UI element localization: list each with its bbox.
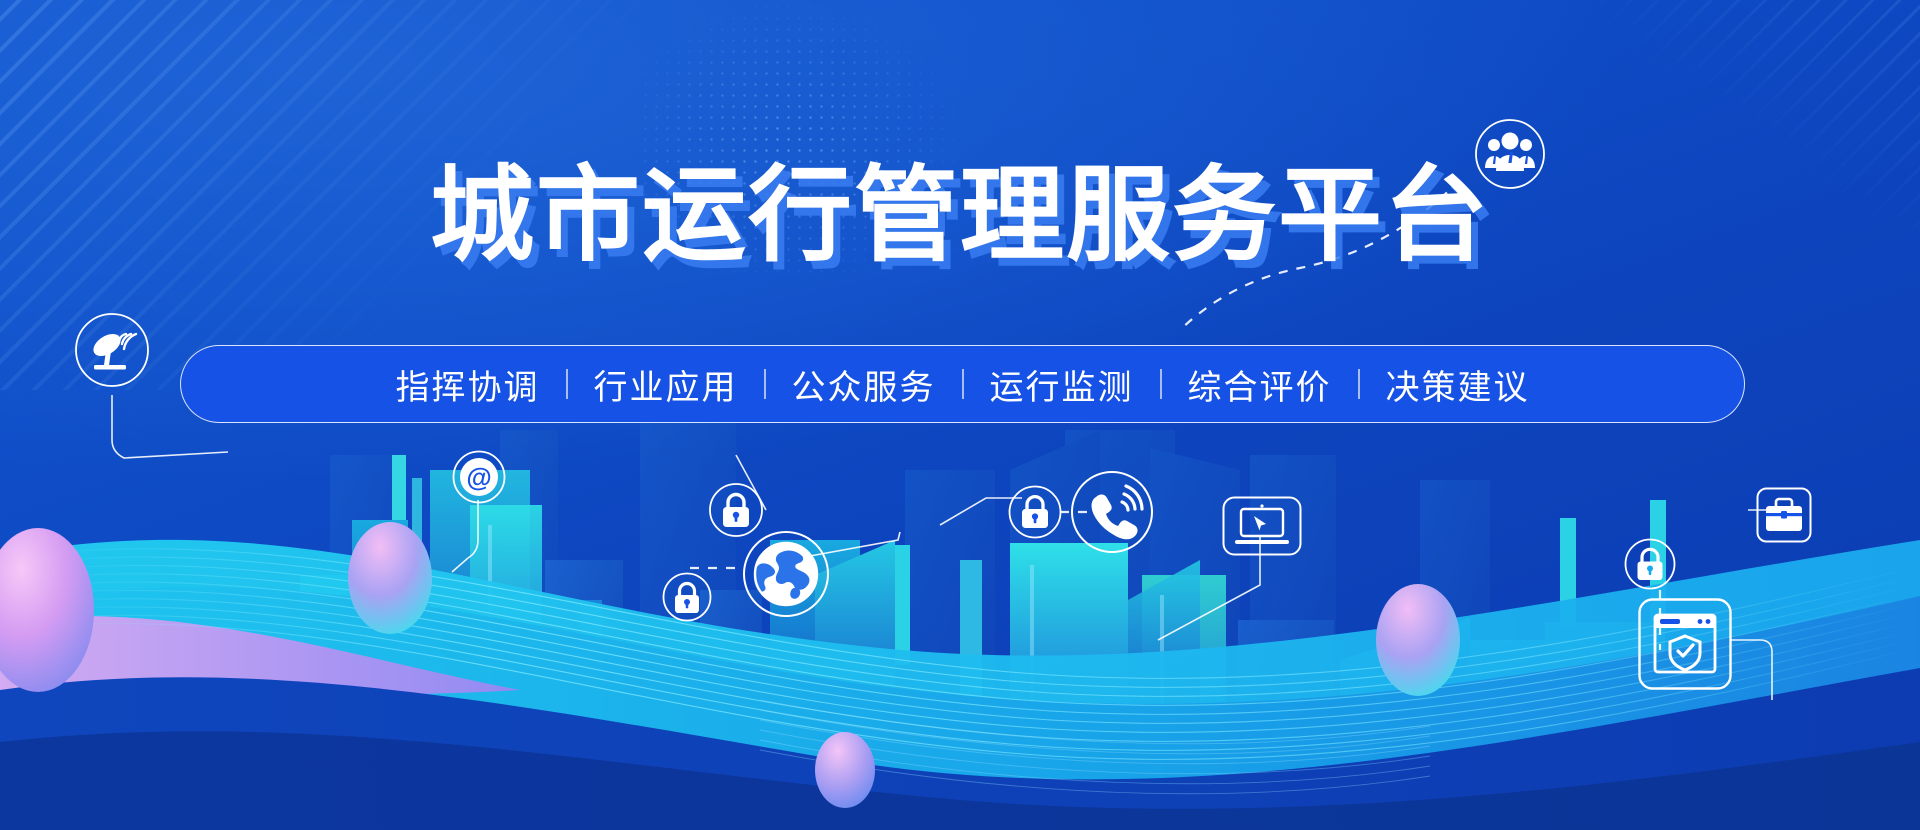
briefcase-icon[interactable] bbox=[1756, 487, 1812, 543]
laptop-cursor-icon[interactable] bbox=[1222, 496, 1302, 556]
lock-icon-lower-left[interactable] bbox=[662, 572, 712, 622]
page-title: 城市运行管理服务平台 bbox=[0, 160, 1920, 272]
lock-icon-center[interactable] bbox=[1008, 485, 1062, 539]
svg-text:@: @ bbox=[466, 462, 491, 492]
at-sign-icon[interactable]: @ bbox=[452, 450, 506, 504]
nav-item-industry-application[interactable]: 行业应用 bbox=[568, 360, 764, 409]
satellite-dish-icon[interactable] bbox=[74, 312, 150, 388]
nav-item-operation-monitoring[interactable]: 运行监测 bbox=[964, 360, 1160, 409]
nav-item-comprehensive-evaluation[interactable]: 综合评价 bbox=[1162, 360, 1358, 409]
browser-shield-icon[interactable] bbox=[1638, 598, 1732, 690]
people-group-icon[interactable] bbox=[1474, 118, 1546, 190]
main-nav-bar[interactable]: 指挥协调 行业应用 公众服务 运行监测 综合评价 决策建议 bbox=[180, 345, 1745, 423]
phone-signal-icon[interactable] bbox=[1070, 470, 1154, 554]
nav-item-decision-suggestion[interactable]: 决策建议 bbox=[1360, 360, 1556, 409]
lock-icon-right[interactable] bbox=[1624, 538, 1676, 590]
globe-icon[interactable] bbox=[742, 530, 830, 618]
city-platform-banner: 城市运行管理服务平台 指挥协调 行业应用 公众服务 运行监测 综合评价 决策建议 bbox=[0, 0, 1920, 830]
nav-item-command-coordination[interactable]: 指挥协调 bbox=[370, 360, 566, 409]
nav-item-public-service[interactable]: 公众服务 bbox=[766, 360, 962, 409]
